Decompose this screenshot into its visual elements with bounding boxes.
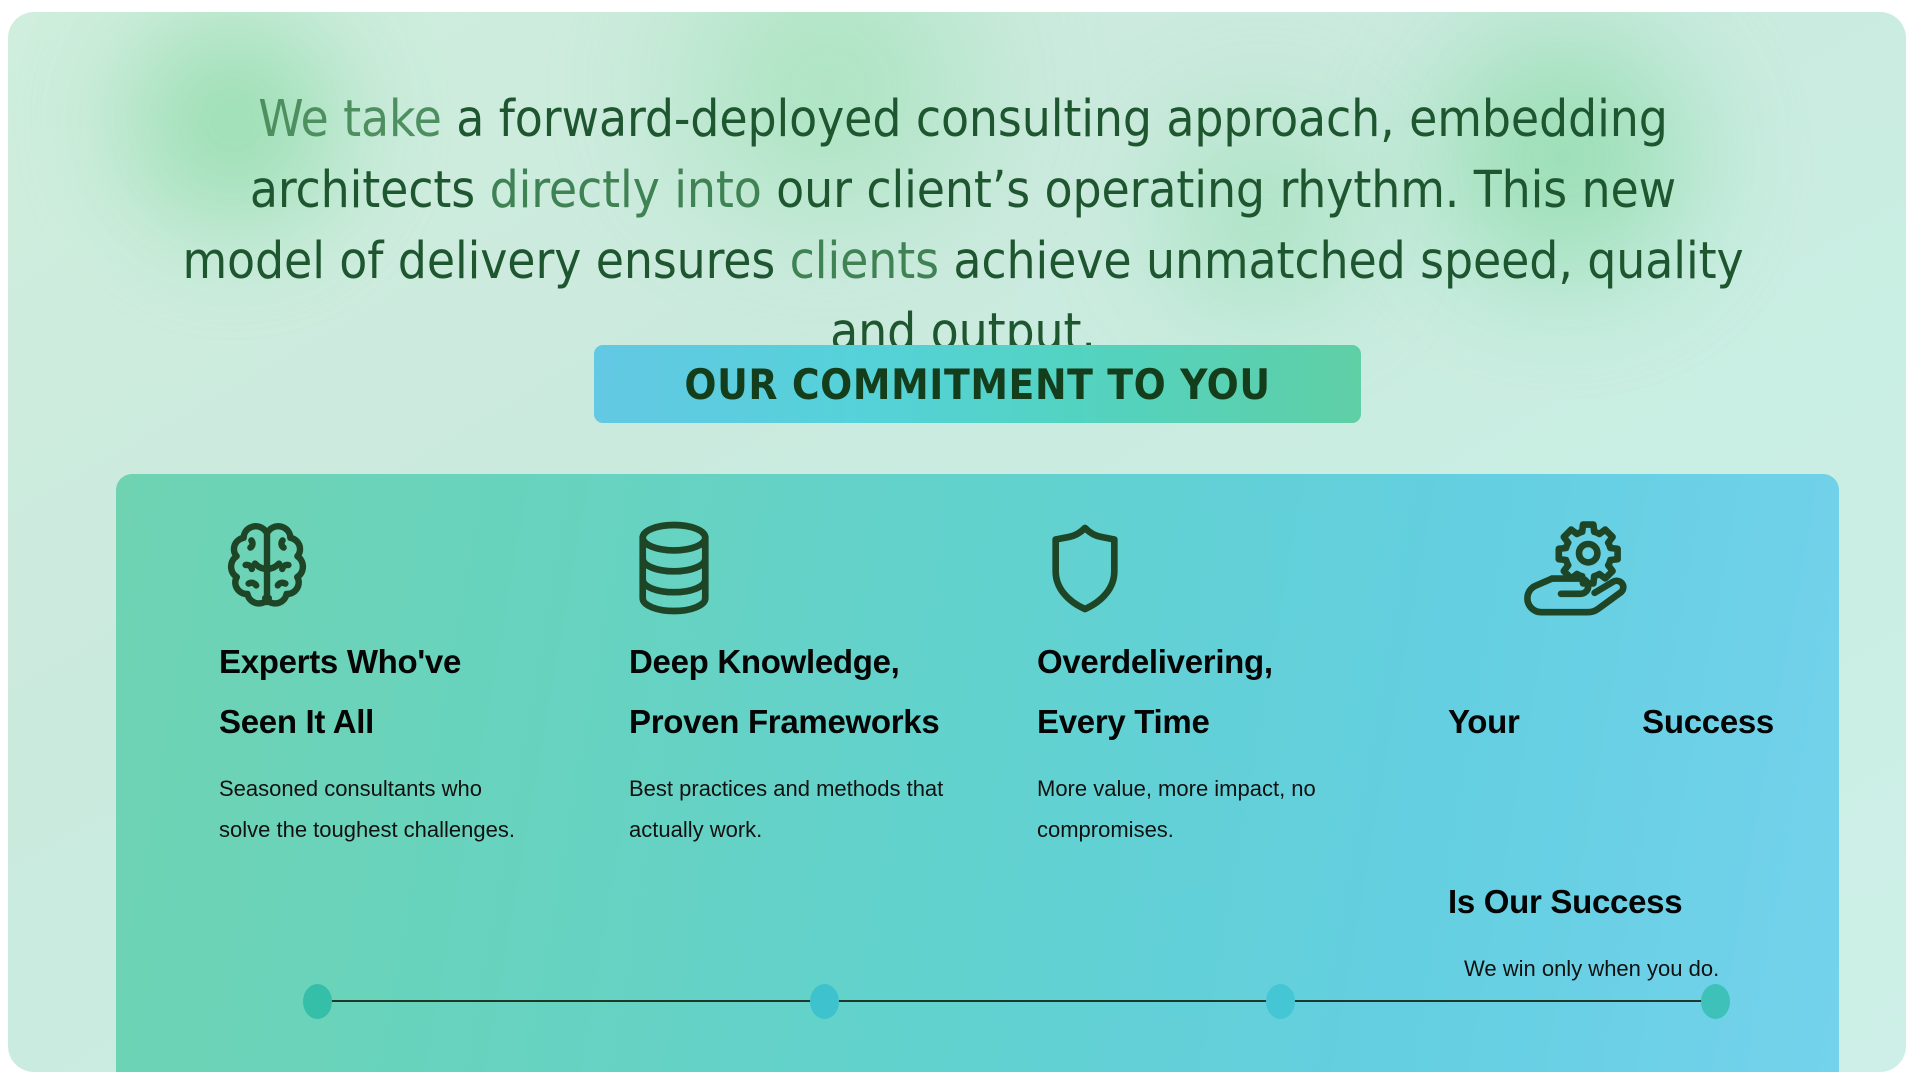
timeline-node-2[interactable] (810, 984, 839, 1019)
our-commitment-button[interactable]: OUR COMMITMENT TO YOU (594, 345, 1361, 423)
database-icon (593, 504, 993, 632)
headline-segment: We take (258, 90, 442, 149)
feature-body: Best practices and methods that actually… (593, 768, 993, 850)
timeline-track (306, 1000, 1726, 1002)
timeline-node-3[interactable] (1266, 984, 1295, 1019)
shield-icon (1004, 504, 1404, 632)
headline-segment: directly into (490, 161, 762, 220)
hero-panel: We take a forward-deployed consulting ap… (8, 12, 1906, 1072)
hero-headline: We take a forward-deployed consulting ap… (178, 84, 1748, 368)
feature-column-knowledge: Deep Knowledge, Proven Frameworks Best p… (593, 504, 993, 850)
feature-body: Seasoned consultants who solve the tough… (181, 768, 581, 850)
brain-icon (181, 504, 581, 632)
headline-segment: clients (790, 232, 939, 291)
our-commitment-button-label: OUR COMMITMENT TO YOU (684, 360, 1270, 409)
feature-body: More value, more impact, no compromises. (1004, 768, 1404, 850)
feature-title: Overdelivering, Every Time (1004, 632, 1404, 752)
feature-title: Your Success Is Our Success (1412, 632, 1812, 932)
feature-card: Experts Who've Seen It All Seasoned cons… (116, 474, 1839, 1072)
feature-column-overdelivering: Overdelivering, Every Time More value, m… (1004, 504, 1404, 850)
feature-title: Experts Who've Seen It All (181, 632, 581, 752)
feature-title-line2: Is Our Success (1448, 883, 1682, 920)
feature-column-success: Your Success Is Our Success We win only … (1412, 504, 1812, 989)
timeline-node-4[interactable] (1701, 984, 1730, 1019)
hand-gear-icon (1412, 504, 1812, 632)
timeline (116, 999, 1839, 1003)
feature-title-line1: Your Success (1448, 692, 1774, 812)
timeline-node-1[interactable] (303, 984, 332, 1019)
feature-title: Deep Knowledge, Proven Frameworks (593, 632, 993, 752)
headline-segment: achieve unmatched speed, quality and out… (830, 232, 1743, 362)
feature-body: We win only when you do. (1412, 948, 1812, 989)
feature-column-experts: Experts Who've Seen It All Seasoned cons… (181, 504, 581, 850)
